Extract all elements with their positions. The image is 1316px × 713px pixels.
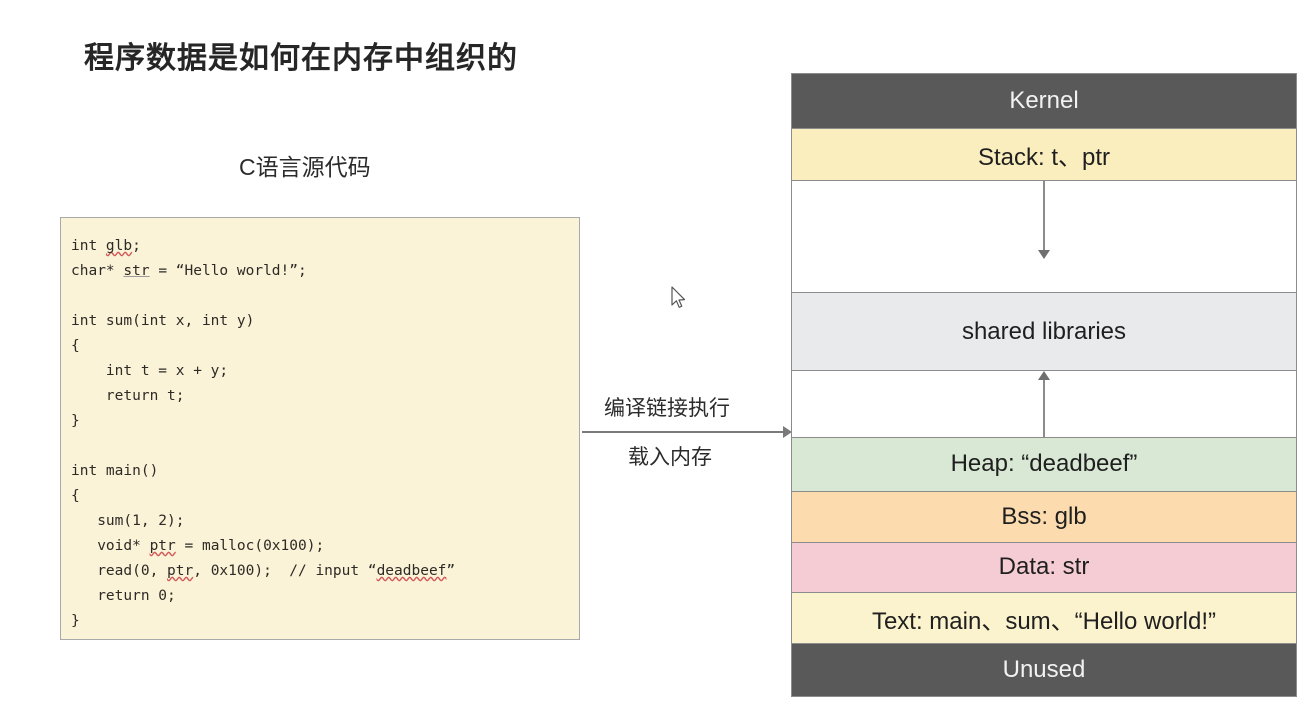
source-code-panel: int glb; char* str = “Hello world!”; int… <box>60 217 580 640</box>
memory-row-label: Heap: “deadbeef” <box>951 450 1138 478</box>
memory-row-heap-deadbeef: Heap: “deadbeef” <box>792 438 1296 492</box>
memory-row-label: Kernel <box>1009 87 1078 115</box>
memory-row-gap-2 <box>792 181 1296 294</box>
code-caption: C语言源代码 <box>239 148 371 182</box>
mouse-cursor-icon <box>670 286 688 310</box>
memory-layout-diagram: KernelStack: t、ptrshared librariesHeap: … <box>791 73 1297 697</box>
arrow-down-icon <box>1043 181 1045 251</box>
flow-label-load-memory: 载入内存 <box>628 441 712 471</box>
flow-arrow-line <box>582 431 785 433</box>
memory-row-data-str: Data: str <box>792 543 1296 594</box>
source-code-text: int glb; char* str = “Hello world!”; int… <box>71 234 579 634</box>
page-title: 程序数据是如何在内存中组织的 <box>84 33 518 77</box>
memory-row-label: Stack: t、ptr <box>978 137 1110 172</box>
arrow-up-icon <box>1043 379 1045 437</box>
memory-row-gap-4 <box>792 371 1296 438</box>
memory-row-label: Text: main、sum、“Hello world!” <box>872 601 1216 636</box>
memory-row-label: Unused <box>1003 656 1086 684</box>
memory-row-label: Data: str <box>999 553 1090 581</box>
memory-row-shared-libraries: shared libraries <box>792 293 1296 371</box>
memory-row-stack-t-ptr: Stack: t、ptr <box>792 129 1296 181</box>
page-edge-strip <box>1312 0 1316 713</box>
memory-row-unused: Unused <box>792 644 1296 696</box>
memory-row-bss-glb: Bss: glb <box>792 492 1296 543</box>
memory-row-label: shared libraries <box>962 318 1126 346</box>
flow-label-compile: 编译链接执行 <box>604 392 730 422</box>
memory-row-label: Bss: glb <box>1001 503 1086 531</box>
memory-row-text-main-sum-hello-world: Text: main、sum、“Hello world!” <box>792 593 1296 644</box>
memory-row-kernel: Kernel <box>792 74 1296 129</box>
